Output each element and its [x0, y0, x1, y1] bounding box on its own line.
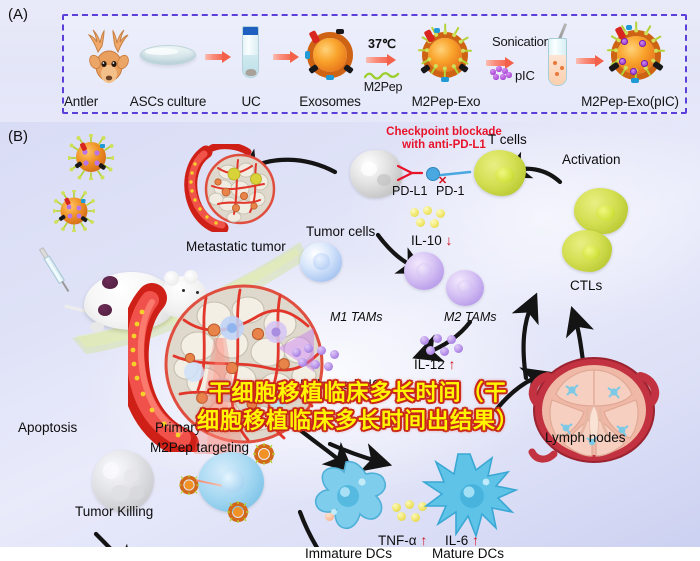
- pic-payload-dot: [619, 58, 626, 65]
- label-immature-dcs: Immature DCs: [305, 546, 392, 561]
- label-m2-tams: M2 TAMs: [444, 310, 497, 324]
- caption-m2pep-exo-pic: M2Pep-Exo(pIC): [565, 94, 695, 109]
- label-il12: IL-12 ↑: [414, 356, 456, 372]
- targeting-nanoparticle-1: [252, 442, 276, 466]
- panel-a: (A) Antler: [0, 0, 700, 122]
- m2pep-exosome-pic-particle: [603, 22, 669, 88]
- label-ctls: CTLs: [570, 278, 602, 293]
- pic-payload-dot: [639, 40, 646, 47]
- exosome-particle: [303, 28, 357, 82]
- membrane-protein-blue-a: [434, 28, 440, 33]
- m2pep-exosome-particle: [414, 24, 476, 86]
- checkpoint-line-2: with anti-PD-L1: [402, 139, 486, 151]
- il10-text: IL-10: [411, 233, 442, 248]
- pic-payload-dot: [630, 68, 637, 75]
- lymph-node: [528, 354, 660, 466]
- pic-payload-dot: [641, 60, 648, 67]
- petri-dish: [140, 45, 196, 65]
- panel-a-label: (A): [8, 6, 28, 23]
- arrow-exosome-to-m2pep-exo: [366, 55, 396, 64]
- tumor-spot-2: [98, 304, 112, 316]
- il10-down-arrow: ↓: [446, 232, 453, 248]
- label-activation: Activation: [562, 152, 621, 167]
- ultracentrifuge-tube: [242, 26, 259, 78]
- label-apoptosis: Apoptosis: [18, 420, 77, 435]
- label-tumor-cells: Tumor cells: [306, 224, 375, 239]
- label-metastatic-tumor: Metastatic tumor: [186, 239, 286, 254]
- arrow-uc-to-exosomes: [273, 52, 299, 61]
- tumor-spot-1: [102, 276, 118, 289]
- arrow-culture-to-uc: [205, 52, 231, 61]
- il10-cytokine-dots: [410, 206, 456, 232]
- pic-cluster-icon: [490, 66, 512, 80]
- immature-dc: [300, 452, 396, 544]
- label-tumor-killing: Tumor Killing: [75, 504, 153, 519]
- caption-m2pep-exo: M2Pep-Exo: [403, 94, 489, 109]
- membrane-protein-blue-b: [631, 78, 639, 83]
- apoptotic-tumor-cell: [92, 450, 154, 512]
- membrane-protein-black-a: [336, 29, 344, 34]
- nanoparticle-exosome-1: [68, 134, 114, 180]
- label-il10: IL-10 ↓: [411, 232, 453, 248]
- label-released-pic: Released pIC: [300, 377, 382, 392]
- membrane-protein-blue-a: [626, 25, 632, 30]
- arrow-sonication-to-final: [576, 56, 604, 65]
- m2-tam-cell-1: [404, 252, 444, 290]
- label-t-cells: T cells: [488, 132, 527, 147]
- targeting-nanoparticle-3: [226, 500, 250, 524]
- caption-sonication: Sonication: [492, 34, 551, 49]
- caption-m2pep: M2Pep: [358, 80, 408, 94]
- t-cell-main: [474, 150, 526, 196]
- il12-text: IL-12: [414, 357, 445, 372]
- metastatic-tumor: [178, 144, 284, 232]
- sonication-tube: [548, 38, 567, 86]
- ctl-cell-2: [562, 230, 612, 272]
- il12-up-arrow: ↑: [449, 356, 456, 372]
- membrane-protein-blue-a: [305, 51, 310, 59]
- temperature-label: 37℃: [368, 36, 396, 51]
- caption-exosomes: Exosomes: [285, 94, 375, 109]
- targeting-nanoparticle-2: [178, 474, 200, 496]
- label-lymph-nodes: Lymph nodes: [545, 430, 626, 445]
- mature-dc: [420, 448, 522, 544]
- membrane-protein-blue-b: [441, 77, 449, 82]
- label-mature-dcs: Mature DCs: [432, 546, 504, 561]
- checkpoint-line-1: Checkpoint blockade: [386, 126, 502, 138]
- panel-b-label: (B): [8, 128, 28, 145]
- antler-deer-illustration: [78, 22, 140, 84]
- panel-b: (B): [0, 122, 700, 547]
- ctl-cell-1: [574, 188, 628, 234]
- scientific-figure: (A) Antler: [0, 0, 700, 547]
- label-pdl1: PD-L1: [392, 184, 427, 198]
- released-pic-dots: [292, 344, 344, 374]
- caption-ascs-culture: ASCs culture: [118, 94, 218, 109]
- m2-tam-cell-2: [446, 270, 484, 306]
- caption-pic: pIC: [515, 68, 535, 83]
- caption-antler: Antler: [46, 94, 116, 109]
- membrane-protein-blue-b: [326, 75, 334, 80]
- label-primary-tumor: Primary tumor: [155, 420, 240, 435]
- caption-uc: UC: [226, 94, 276, 109]
- label-pd1: PD-1: [436, 184, 464, 198]
